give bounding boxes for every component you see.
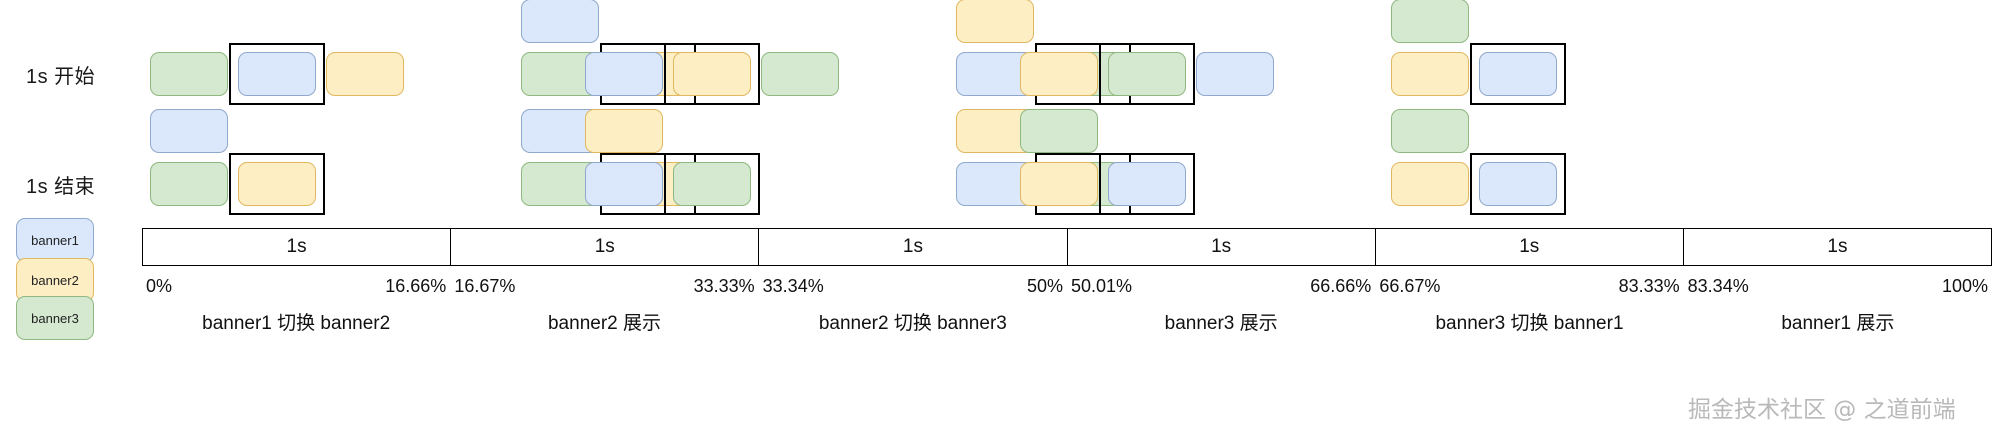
timeline-segment[interactable]: 1s [1068, 229, 1376, 265]
banner-card-b2 [238, 162, 316, 206]
banner-card-b1 [150, 109, 228, 153]
percent-label: 33.34% [763, 276, 824, 297]
banner-card-b3 [1391, 0, 1469, 43]
segment-caption: banner2 展示 [548, 308, 661, 335]
timeline-segment[interactable]: 1s [1684, 229, 1991, 265]
banner-card-b3 [150, 162, 228, 206]
banner-card-b3 [1391, 109, 1469, 153]
banner-card-b1 [1479, 162, 1557, 206]
banner-card-b1 [1196, 52, 1274, 96]
percent-label: 100% [1942, 276, 1988, 297]
banner-card-b3 [761, 52, 839, 96]
banner-card-b2 [673, 52, 751, 96]
percent-label: 83.33% [1619, 276, 1680, 297]
segment-caption: banner1 展示 [1781, 308, 1894, 335]
segment-caption: banner2 切换 banner3 [819, 308, 1007, 335]
banner-card-b1 [238, 52, 316, 96]
legend-item-label: banner2 [31, 273, 79, 288]
banner-card-b2 [326, 52, 404, 96]
timeline-segment[interactable]: 1s [759, 229, 1067, 265]
banner-card-b2 [585, 109, 663, 153]
legend-item-banner1: banner1 [16, 218, 94, 262]
banner-card-b1 [521, 0, 599, 43]
banner-card-b3 [150, 52, 228, 96]
watermark: 掘金技术社区 @ 之道前端 [1688, 390, 1956, 424]
banner-card-b3 [673, 162, 751, 206]
row-label-end: 1s 结束 [26, 170, 95, 199]
timeline-segment[interactable]: 1s [143, 229, 451, 265]
legend-item-label: banner3 [31, 311, 79, 326]
segment-caption: banner1 切换 banner2 [202, 308, 390, 335]
percent-label: 50.01% [1071, 276, 1132, 297]
banner-card-b2 [956, 0, 1034, 43]
banner-card-b3 [1108, 52, 1186, 96]
percent-label: 16.67% [454, 276, 515, 297]
banner-card-b2 [1020, 52, 1098, 96]
row-label-start: 1s 开始 [26, 60, 95, 89]
banner-card-b2 [1020, 162, 1098, 206]
percent-label: 33.33% [694, 276, 755, 297]
percent-label: 0% [146, 276, 172, 297]
percent-label: 66.66% [1310, 276, 1371, 297]
percent-label: 16.66% [385, 276, 446, 297]
segment-caption: banner3 切换 banner1 [1435, 308, 1623, 335]
banner-card-b2 [1391, 162, 1469, 206]
banner-card-b1 [1108, 162, 1186, 206]
banner-card-b3 [1020, 109, 1098, 153]
percent-label: 50% [1027, 276, 1063, 297]
timeline-segment[interactable]: 1s [1376, 229, 1684, 265]
timeline-bar: 1s1s1s1s1s1s [142, 228, 1992, 266]
banner-card-b2 [1391, 52, 1469, 96]
banner-card-b1 [1479, 52, 1557, 96]
percent-label: 83.34% [1688, 276, 1749, 297]
segment-caption: banner3 展示 [1165, 308, 1278, 335]
legend-item-banner3: banner3 [16, 296, 94, 340]
legend-item-label: banner1 [31, 233, 79, 248]
timeline-segment[interactable]: 1s [451, 229, 759, 265]
banner-card-b1 [585, 162, 663, 206]
diagram-canvas: 1s 开始 1s 结束 1s1s1s1s1s1s 0%16.66%16.67%3… [0, 0, 2010, 441]
percent-label: 66.67% [1379, 276, 1440, 297]
banner-card-b1 [585, 52, 663, 96]
